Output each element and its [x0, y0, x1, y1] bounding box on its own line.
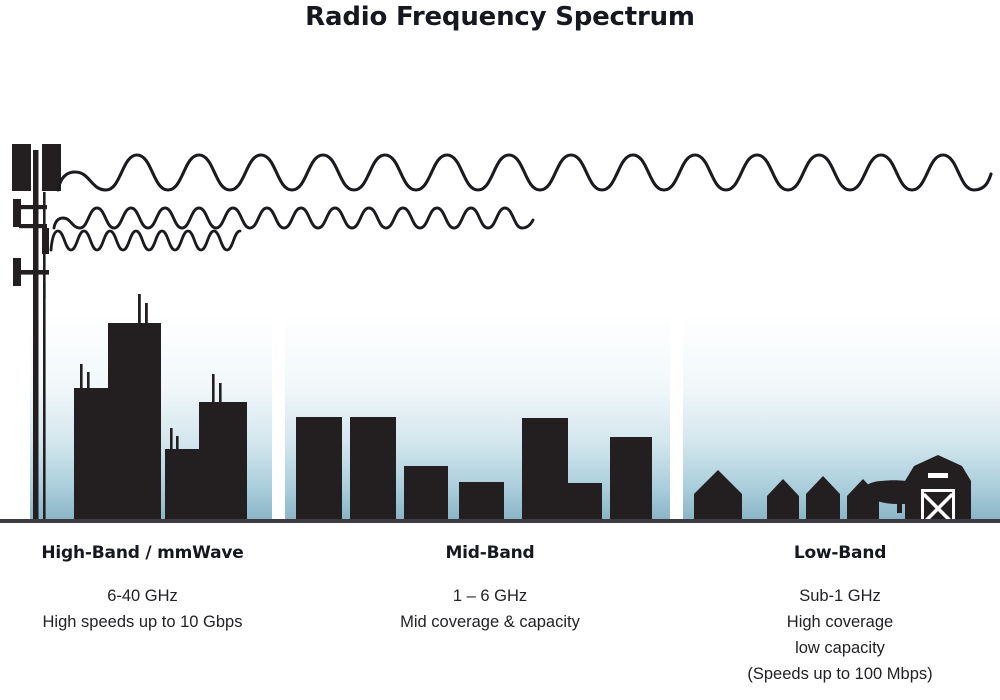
high-frequency-wave	[51, 231, 240, 250]
band-mid-band-detail-1: Mid coverage & capacity	[330, 609, 650, 635]
city-building-4	[199, 402, 247, 520]
ground-line	[0, 519, 1000, 523]
band-low-band-detail-2: low capacity	[680, 635, 1000, 661]
city-building-3-spire-a	[170, 428, 173, 451]
suburb-building-3	[404, 466, 448, 520]
tower-crossbar-lower	[18, 270, 49, 275]
tower-crossbar-upper-2	[19, 224, 47, 228]
city-building-4-spire-b	[219, 383, 222, 404]
tower-antenna-panel-right-mid	[42, 228, 49, 254]
tower-crossbar-upper	[19, 205, 47, 209]
band-high-band-name: High-Band / mmWave	[0, 543, 285, 563]
infographic-canvas: Radio Frequency Spectrum	[0, 0, 1000, 700]
band-low-band-detail-1: High coverage	[680, 609, 1000, 635]
city-building-2	[108, 323, 161, 520]
barn-hayloft-window	[928, 473, 948, 478]
suburb-building-6	[568, 483, 602, 520]
tower-antenna-panel-left-top	[12, 144, 31, 191]
city-building-2-spire-a	[138, 294, 141, 325]
band-labels: High-Band / mmWave 6-40 GHz High speeds …	[0, 543, 1000, 700]
city-building-4-spire-a	[212, 374, 215, 404]
suburb-building-5	[522, 418, 568, 520]
radio-waves	[51, 155, 991, 250]
suburb-building-7	[610, 437, 652, 520]
tower-base-stub	[43, 282, 46, 298]
city-building-2-spire-b	[145, 303, 148, 325]
band-mid-band-name: Mid-Band	[330, 543, 650, 563]
tower-antenna-panel-left-mid	[13, 199, 21, 227]
suburb-building-1	[296, 417, 342, 520]
low-frequency-wave	[58, 155, 991, 190]
band-high-band: High-Band / mmWave 6-40 GHz High speeds …	[0, 543, 285, 635]
mid-frequency-wave	[54, 208, 533, 228]
suburb-building-4	[459, 482, 504, 520]
band-high-band-frequency: 6-40 GHz	[0, 583, 285, 609]
band-low-band: Low-Band Sub-1 GHz High coverage low cap…	[680, 543, 1000, 687]
city-building-1-spire-b	[87, 372, 90, 390]
band-mid-band: Mid-Band 1 – 6 GHz Mid coverage & capaci…	[330, 543, 650, 635]
band-low-band-name: Low-Band	[680, 543, 1000, 563]
city-building-3-spire-b	[176, 436, 179, 451]
band-low-band-frequency: Sub-1 GHz	[680, 583, 1000, 609]
suburb-building-2	[350, 417, 396, 520]
band-high-band-detail-1: High speeds up to 10 Gbps	[0, 609, 285, 635]
band-mid-band-frequency: 1 – 6 GHz	[330, 583, 650, 609]
band-low-band-detail-3: (Speeds up to 100 Mbps)	[680, 661, 1000, 687]
city-building-1-spire-a	[80, 364, 83, 390]
